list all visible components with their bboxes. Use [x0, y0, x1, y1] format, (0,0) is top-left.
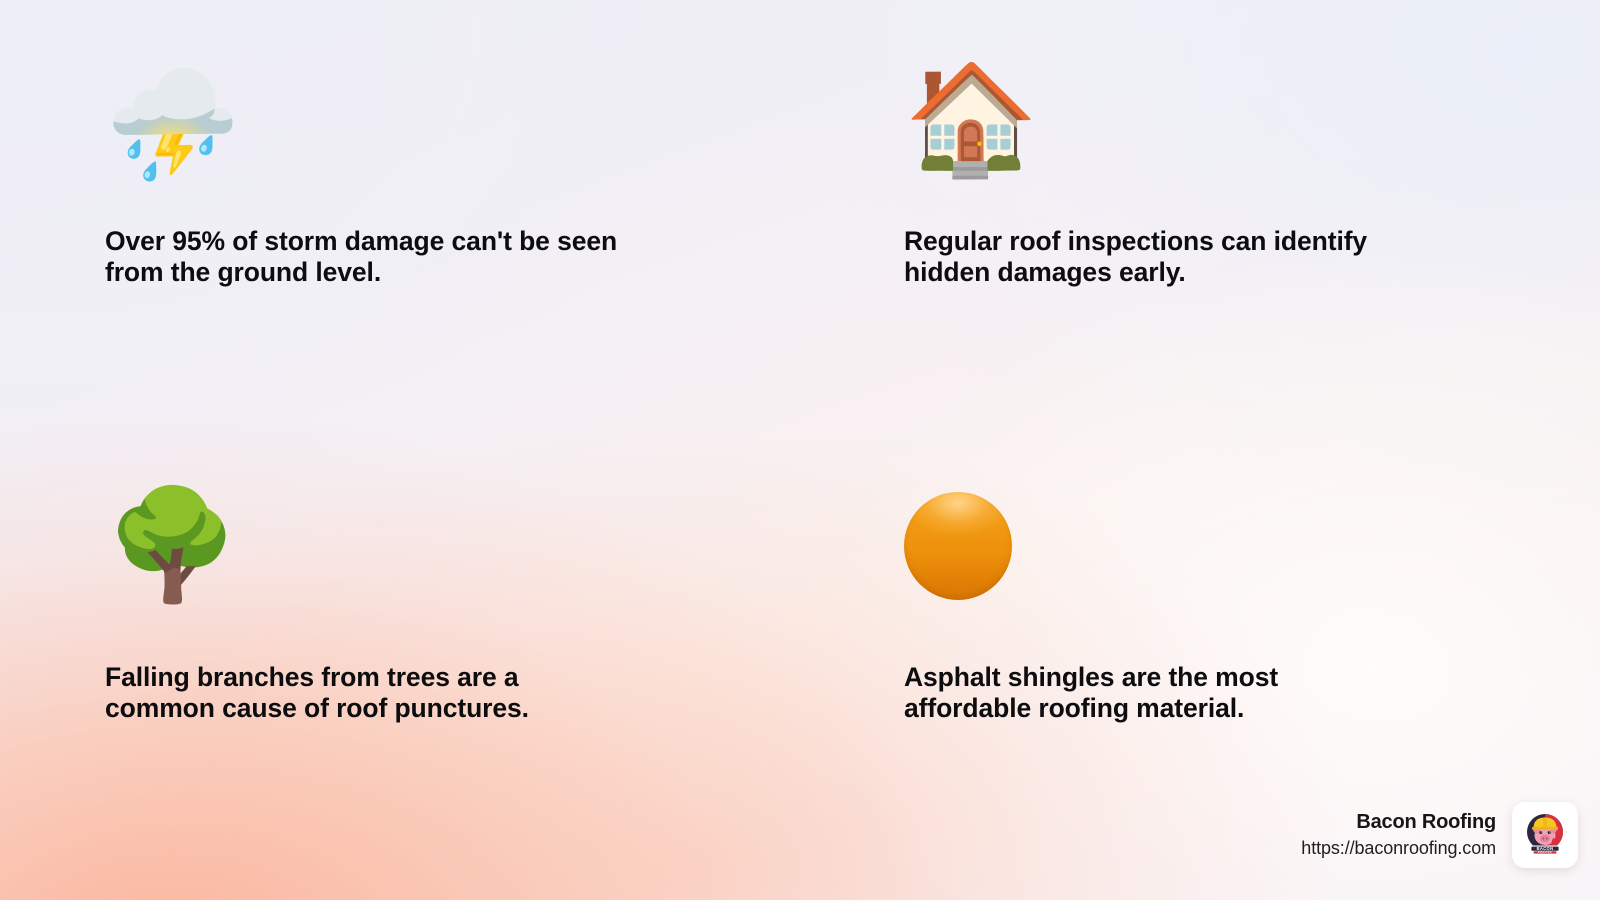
fact-text-3: Falling branches from trees are a common…	[105, 662, 725, 725]
fact-card-3: 🌳 Falling branches from trees are a comm…	[105, 492, 725, 725]
footer-text-block: Bacon Roofing https://baconroofing.com	[1301, 811, 1496, 859]
brand-logo-card[interactable]: BACON ROOFING	[1512, 802, 1578, 868]
footer-branding: Bacon Roofing https://baconroofing.com	[1301, 802, 1578, 868]
tree-icon: 🌳	[105, 492, 725, 610]
bacon-roofing-logo-icon: BACON ROOFING	[1519, 809, 1571, 861]
house-icon: 🏠	[904, 66, 1524, 184]
infographic-canvas: ⛈️ Over 95% of storm damage can't be see…	[0, 0, 1600, 900]
brand-url[interactable]: https://baconroofing.com	[1301, 838, 1496, 859]
logo-banner-text: BACON	[1537, 846, 1554, 851]
orange-circle-shape	[904, 492, 1012, 600]
fact-text-4: Asphalt shingles are the most affordable…	[904, 662, 1524, 725]
fact-card-2: 🏠 Regular roof inspections can identify …	[904, 66, 1524, 289]
logo-banner-subtext: ROOFING	[1538, 852, 1552, 854]
orange-circle-icon	[904, 492, 1524, 610]
fact-card-1: ⛈️ Over 95% of storm damage can't be see…	[105, 72, 725, 289]
storm-cloud-icon: ⛈️	[105, 72, 725, 190]
brand-name: Bacon Roofing	[1356, 811, 1496, 834]
fact-text-1: Over 95% of storm damage can't be seen f…	[105, 226, 725, 289]
fact-text-2: Regular roof inspections can identify hi…	[904, 226, 1524, 289]
fact-card-4: Asphalt shingles are the most affordable…	[904, 492, 1524, 725]
